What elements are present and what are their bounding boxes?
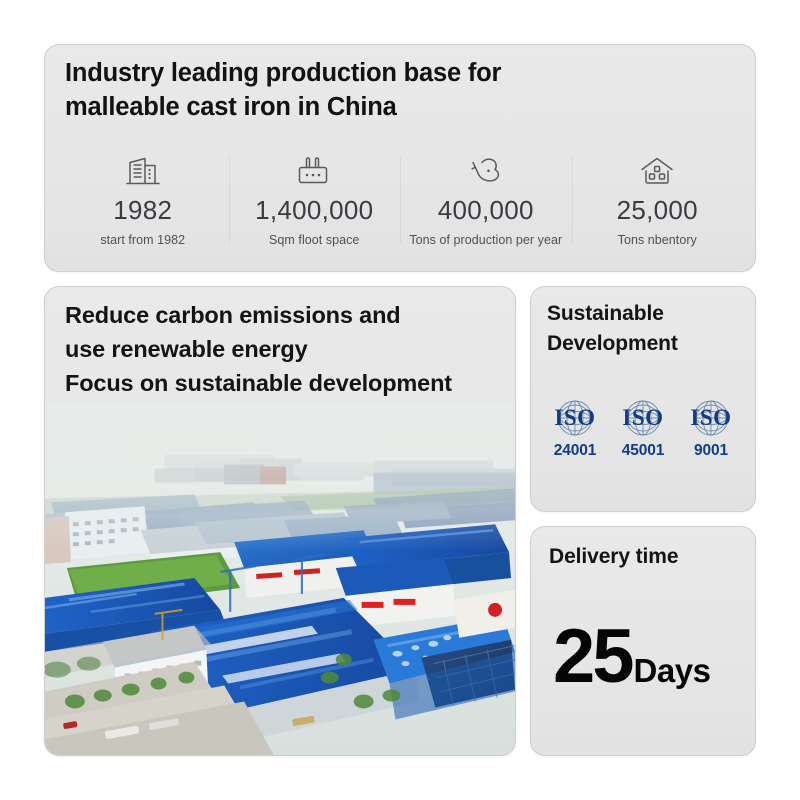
iso-badge-45001: ISO 45001 bbox=[609, 395, 677, 460]
sustainable-development-card: Sustainable Development ISO 24001 bbox=[530, 286, 756, 512]
stat-item-inventory: 25,000 Tons nbentory bbox=[572, 149, 744, 247]
eco-heading: Reduce carbon emissions and use renewabl… bbox=[65, 299, 501, 400]
iso-number: 45001 bbox=[622, 442, 665, 460]
stat-item-start-year: 1982 start from 1982 bbox=[57, 149, 229, 247]
eco-heading-line1: Reduce carbon emissions and bbox=[65, 299, 501, 333]
stat-value: 1,400,000 bbox=[255, 197, 373, 223]
iso-word: ISO bbox=[544, 406, 606, 429]
iso-number: 9001 bbox=[694, 442, 728, 460]
stat-label: Sqm floot space bbox=[269, 233, 359, 247]
iso-globe-icon: ISO bbox=[680, 395, 742, 441]
stat-value: 1982 bbox=[113, 197, 172, 223]
iso-badge-9001: ISO 9001 bbox=[677, 395, 745, 460]
iso-number: 24001 bbox=[554, 442, 597, 460]
factory-aerial-photo bbox=[45, 403, 515, 755]
iso-word: ISO bbox=[680, 406, 742, 429]
stat-label: start from 1982 bbox=[100, 233, 185, 247]
hero-title-line1: Industry leading production base for bbox=[65, 59, 501, 87]
delivery-time-card: Delivery time 25 Days bbox=[530, 526, 756, 756]
stat-item-production: 400,000 Tons of production per year bbox=[400, 149, 572, 247]
iso-badge-24001: ISO 24001 bbox=[541, 395, 609, 460]
molten-ladle-icon bbox=[465, 149, 507, 193]
iso-title-line1: Sustainable bbox=[547, 299, 745, 329]
eco-heading-line2: use renewable energy bbox=[65, 333, 501, 367]
delivery-time-title: Delivery time bbox=[549, 545, 678, 569]
sustainability-photo-card: Reduce carbon emissions and use renewabl… bbox=[44, 286, 516, 756]
delivery-time-value: 25 Days bbox=[553, 623, 745, 691]
iso-word: ISO bbox=[612, 406, 674, 429]
office-building-icon bbox=[124, 149, 162, 193]
stat-value: 400,000 bbox=[438, 197, 534, 223]
hero-title-line2: malleable cast iron in China bbox=[65, 91, 737, 125]
factory-aerial-illustration bbox=[45, 403, 515, 755]
page-title: Industry leading production base for mal… bbox=[65, 57, 737, 125]
delivery-unit: Days bbox=[634, 652, 711, 690]
warehouse-icon bbox=[638, 149, 676, 193]
stats-row: 1982 start from 1982 1,400,000 Sqm floot… bbox=[57, 149, 743, 247]
factory-icon bbox=[294, 149, 334, 193]
iso-globe-icon: ISO bbox=[544, 395, 606, 441]
iso-badge-row: ISO 24001 ISO 45001 bbox=[541, 395, 745, 460]
stat-label: Tons nbentory bbox=[618, 233, 697, 247]
delivery-number: 25 bbox=[553, 623, 632, 691]
stat-value: 25,000 bbox=[617, 197, 698, 223]
eco-heading-line3: Focus on sustainable development bbox=[65, 367, 501, 401]
stat-label: Tons of production per year bbox=[409, 233, 562, 247]
hero-card: Industry leading production base for mal… bbox=[44, 44, 756, 272]
infographic-page: Industry leading production base for mal… bbox=[0, 0, 800, 800]
stat-item-floor-space: 1,400,000 Sqm floot space bbox=[229, 149, 401, 247]
sustainable-development-title: Sustainable Development bbox=[547, 299, 745, 359]
iso-title-line2: Development bbox=[547, 329, 745, 359]
iso-globe-icon: ISO bbox=[612, 395, 674, 441]
